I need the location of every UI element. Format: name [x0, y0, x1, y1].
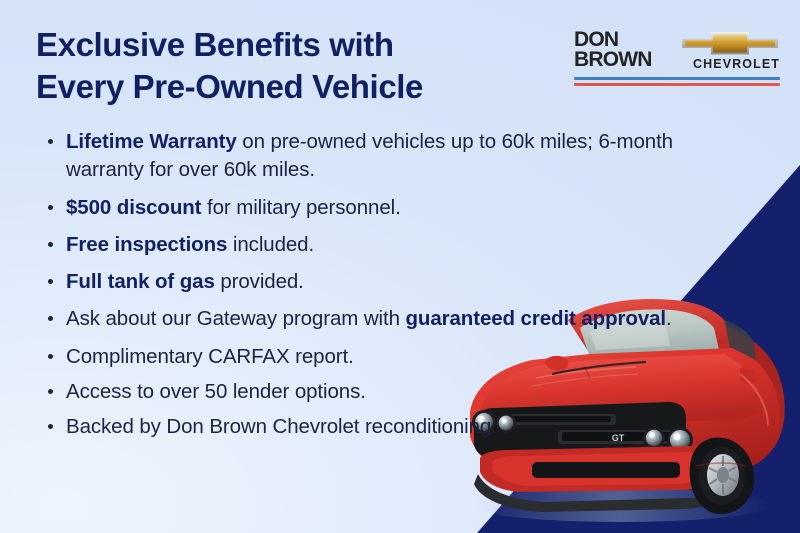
bullet-bold-lead: Free inspections: [66, 233, 227, 256]
bullet-text: Access to over 50 lender options.: [66, 380, 366, 403]
dealer-logo: DON BROWN: [574, 28, 780, 86]
bullet-text-after: .: [666, 307, 672, 330]
benefits-list: Lifetime Warranty on pre-owned vehicles …: [40, 128, 740, 449]
list-item: Ask about our Gateway program with guara…: [40, 305, 740, 333]
bullet-text: provided.: [215, 270, 304, 293]
bullet-text: included.: [227, 233, 314, 256]
dealer-name-line-1: DON: [574, 30, 652, 50]
bullet-text: for military personnel.: [201, 196, 400, 219]
bullet-text: Backed by Don Brown Chevrolet reconditio…: [66, 415, 497, 438]
bullet-bold-lead: Full tank of gas: [66, 270, 215, 293]
list-item: $500 discount for military personnel.: [40, 194, 740, 222]
headline-line-1: Exclusive Benefits with: [36, 26, 394, 63]
bullet-bold-lead: $500 discount: [66, 196, 201, 219]
list-item: Lifetime Warranty on pre-owned vehicles …: [40, 128, 740, 185]
list-item: Full tank of gas provided.: [40, 268, 740, 296]
bullet-text: Ask about our Gateway program with: [66, 307, 405, 330]
bullet-text: Complimentary CARFAX report.: [66, 345, 354, 368]
bullet-bold-tail: guaranteed credit approval: [405, 307, 666, 330]
dealer-name: DON BROWN: [574, 28, 652, 70]
list-item: Complimentary CARFAX report.: [40, 343, 740, 371]
page-title: Exclusive Benefits with Every Pre-Owned …: [36, 24, 566, 108]
stripe-red: [574, 83, 780, 86]
headline-line-2: Every Pre-Owned Vehicle: [36, 66, 566, 108]
chevrolet-bowtie-icon: [680, 28, 780, 58]
list-item: Backed by Don Brown Chevrolet reconditio…: [40, 413, 740, 441]
list-item: Access to over 50 lender options.: [40, 378, 740, 406]
logo-stripes: [574, 77, 780, 86]
dealer-name-line-2: BROWN: [574, 50, 652, 70]
list-item: Free inspections included.: [40, 231, 740, 259]
promo-banner: Exclusive Benefits with Every Pre-Owned …: [0, 0, 800, 533]
chevrolet-wordmark: CHEVROLET: [660, 57, 780, 71]
bullet-bold-lead: Lifetime Warranty: [66, 130, 237, 153]
